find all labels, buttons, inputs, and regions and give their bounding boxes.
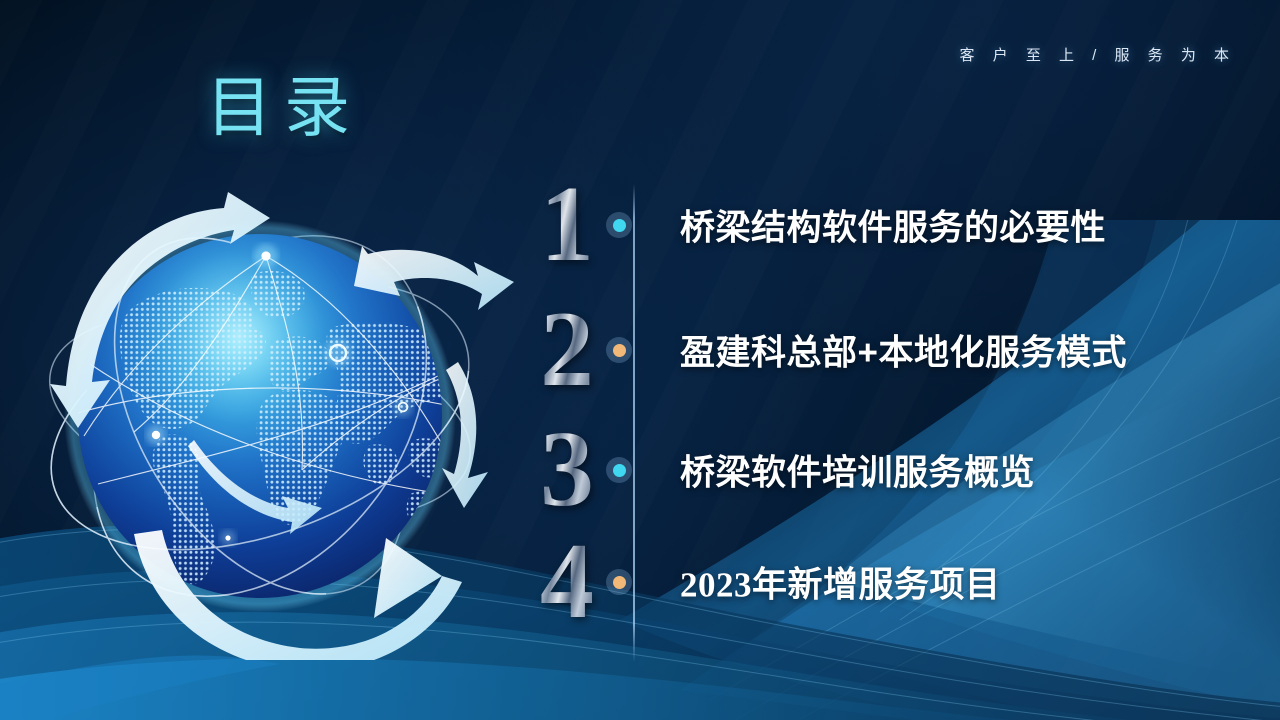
toc-number-4: 4 [540, 528, 594, 636]
toc-number-2: 2 [540, 296, 594, 404]
toc-bullet-1 [606, 212, 632, 238]
toc-label-3[interactable]: 桥梁软件培训服务概览 [680, 445, 1035, 496]
timeline-line [633, 184, 635, 662]
toc-label-1[interactable]: 桥梁结构软件服务的必要性 [680, 200, 1106, 251]
ribbon-decoration [500, 220, 1280, 720]
page-title: 目录 [206, 76, 362, 142]
presentation-slide: 客 户 至 上 / 服 务 为 本 目录 [0, 0, 1280, 720]
toc-bullet-4 [606, 569, 632, 595]
toc-number-1: 1 [540, 171, 594, 279]
header-tagline: 客 户 至 上 / 服 务 为 本 [959, 44, 1236, 65]
toc-number-3: 3 [540, 416, 594, 524]
toc-label-4[interactable]: 2023年新增服务项目 [680, 557, 1001, 608]
toc-bullet-2 [606, 337, 632, 363]
toc-bullet-3 [606, 457, 632, 483]
globe-illustration [38, 178, 518, 660]
toc-label-2[interactable]: 盈建科总部+本地化服务模式 [680, 325, 1127, 376]
